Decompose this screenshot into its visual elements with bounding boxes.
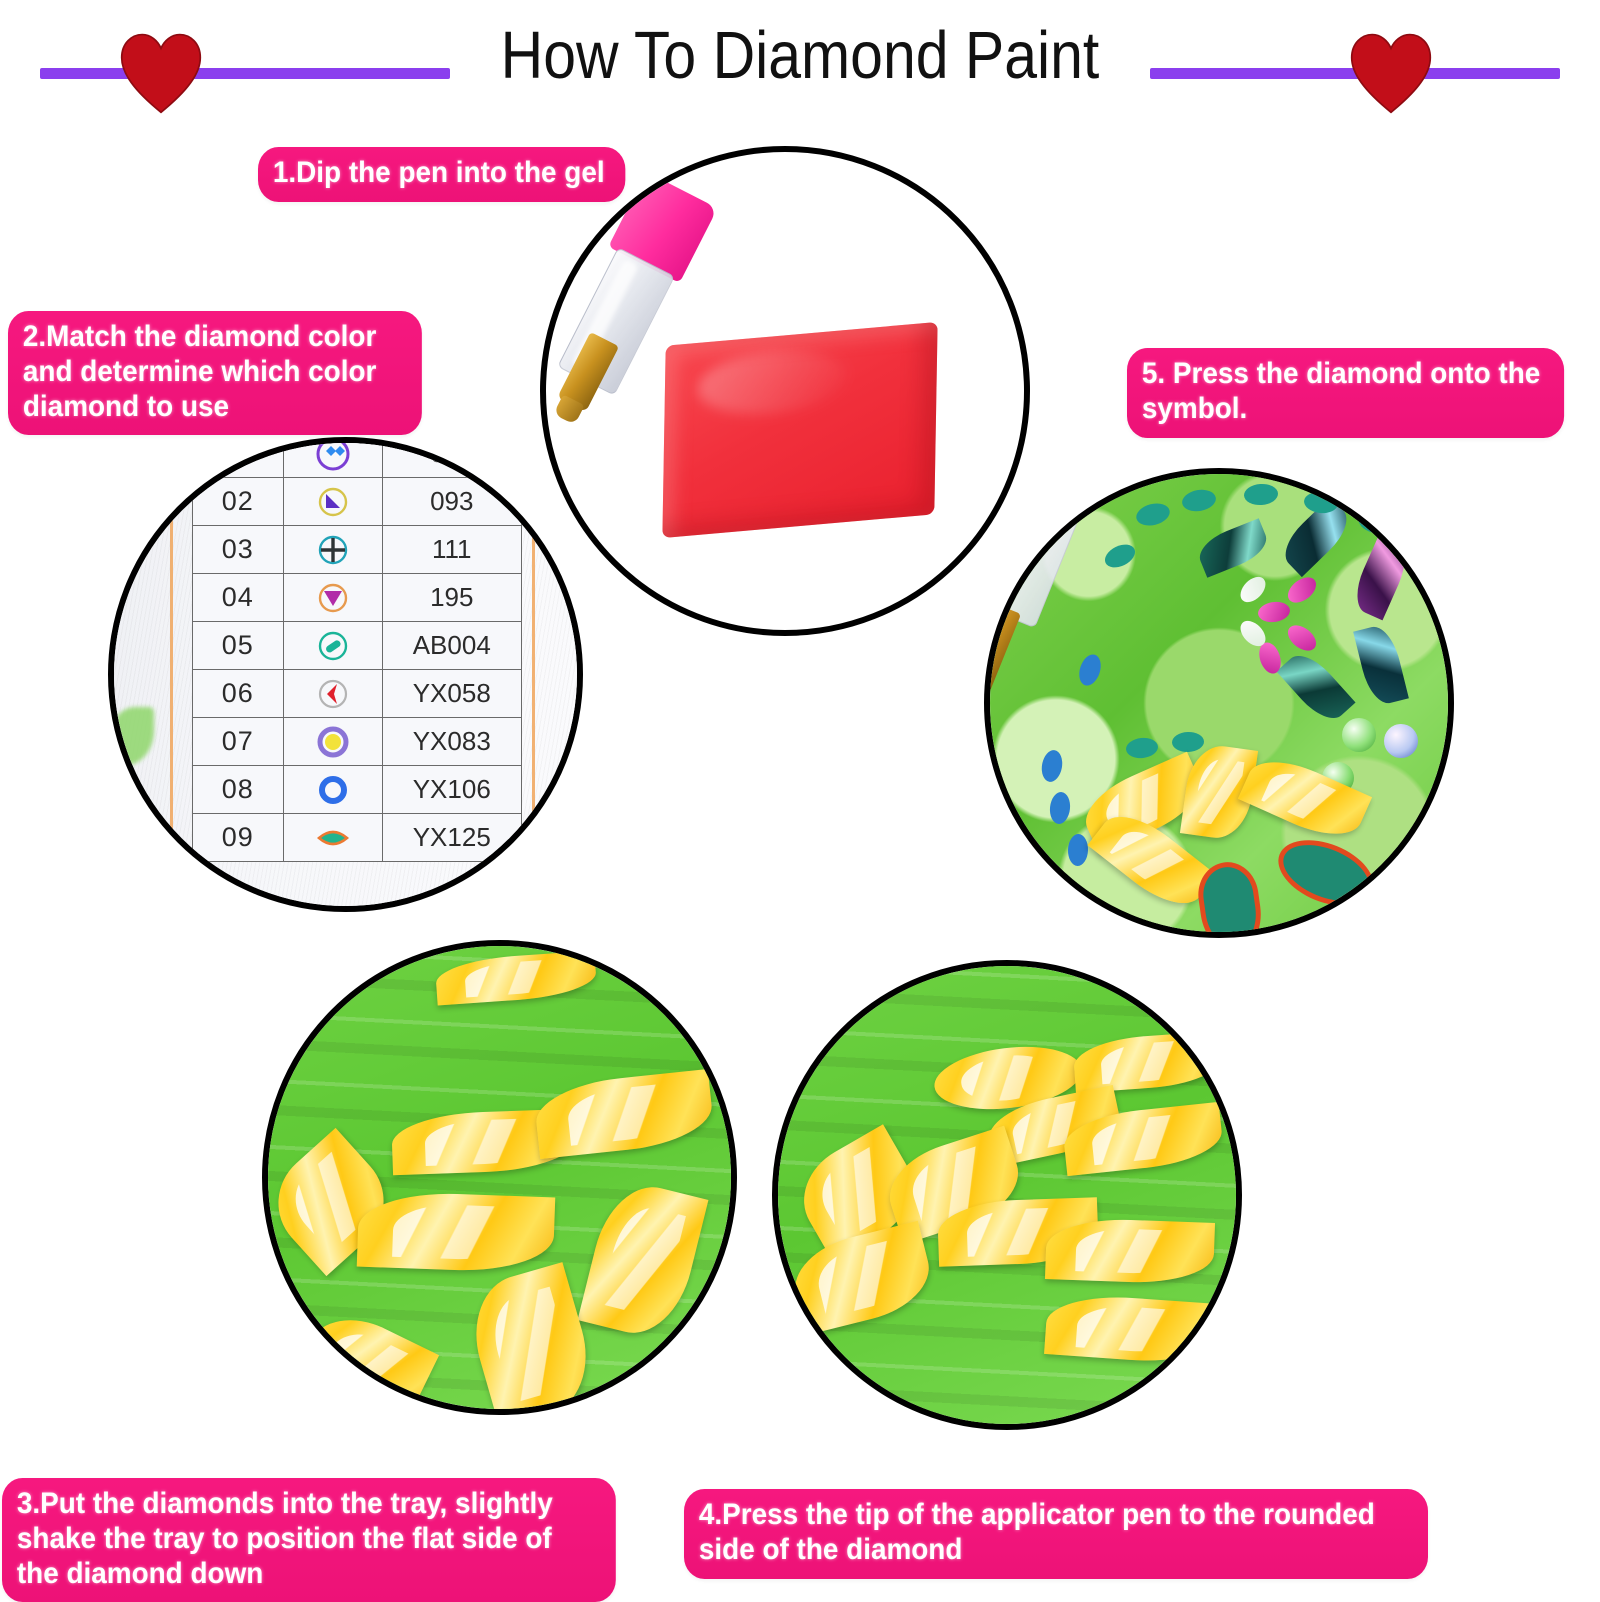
green-tray <box>264 942 735 1413</box>
step-3-photo-diamonds-in-tray <box>262 940 737 1415</box>
row-code: 093 <box>382 478 521 526</box>
row-symbol <box>283 478 382 526</box>
step-5-label: 5. Press the diamond onto the symbol. <box>1127 348 1564 438</box>
chart-sheet: 028 02 093 <box>114 443 577 906</box>
yellow-diamond <box>357 1191 556 1274</box>
pen-tip <box>984 684 985 711</box>
row-symbol <box>283 814 382 862</box>
yellow-diamond <box>1044 1292 1220 1366</box>
canvas-print-smudge <box>108 839 146 873</box>
green-tray <box>774 962 1240 1428</box>
row-symbol <box>283 437 382 478</box>
printed-symbol <box>1356 508 1394 538</box>
row-number: 09 <box>193 814 284 862</box>
table-row: 09 YX125 <box>193 814 522 862</box>
pen-gold-shaft <box>984 603 1021 700</box>
placed-gem <box>1283 620 1321 655</box>
red-gel-pad <box>662 322 937 538</box>
printed-symbol <box>1134 500 1172 529</box>
double-diamond-in-purple-circle-icon <box>284 437 382 476</box>
canvas-print-smudge <box>108 707 154 765</box>
filled-quarter-triangle-icon <box>284 480 382 524</box>
yellow-diamond <box>435 950 598 1005</box>
step-2-photo-color-chart: 028 02 093 <box>108 437 583 912</box>
placed-gem <box>1342 718 1376 752</box>
placed-gem <box>1353 623 1409 708</box>
filled-triangle-icon <box>284 576 382 620</box>
sheet-margin-rule <box>170 443 173 906</box>
table-row: 08 YX106 <box>193 766 522 814</box>
table-row: 06 YX058 <box>193 670 522 718</box>
infographic-canvas: How To Diamond Paint 1.Dip the pen into … <box>0 0 1600 1600</box>
placed-gem <box>1384 724 1418 758</box>
printed-symbol <box>1236 572 1271 607</box>
row-code: YX106 <box>382 766 521 814</box>
left-chevron-arrow-icon <box>284 672 382 716</box>
row-symbol <box>283 574 382 622</box>
row-code: YX058 <box>382 670 521 718</box>
printed-symbol <box>1269 827 1383 918</box>
step-4-photo-pen-pressing-diamond <box>772 960 1242 1430</box>
printed-symbol <box>1076 652 1105 689</box>
capsule-bar-icon <box>284 624 382 668</box>
yellow-diamond <box>291 1302 439 1415</box>
open-ring-icon <box>284 768 382 812</box>
placed-gem <box>1257 600 1291 624</box>
leaf-lens-icon <box>284 816 382 860</box>
row-code: 111 <box>382 526 521 574</box>
yellow-diamond <box>1238 748 1372 849</box>
row-number: 02 <box>193 478 284 526</box>
printed-symbol <box>1048 791 1071 825</box>
row-code: YX083 <box>382 718 521 766</box>
printed-symbol <box>1067 834 1088 867</box>
printed-symbol <box>1180 487 1217 514</box>
row-number: 05 <box>193 622 284 670</box>
yellow-diamond <box>1072 1031 1223 1093</box>
step-5-photo-press-diamond-onto-symbol <box>984 468 1454 938</box>
row-number: 08 <box>193 766 284 814</box>
table-row: 02 093 <box>193 478 522 526</box>
placed-gem <box>1194 518 1272 578</box>
row-symbol <box>283 766 382 814</box>
photo-content <box>546 152 1024 630</box>
row-number: 03 <box>193 526 284 574</box>
placed-gem <box>1348 534 1414 621</box>
row-number: 04 <box>193 574 284 622</box>
page-title: How To Diamond Paint <box>96 22 1504 89</box>
applicator-pen <box>984 468 1109 729</box>
row-symbol <box>283 526 382 574</box>
row-number: 07 <box>193 718 284 766</box>
table-row: 04 195 <box>193 574 522 622</box>
color-chart-table: 028 02 093 <box>192 437 522 862</box>
step-2-label: 2.Match the diamond color and determine … <box>8 311 422 435</box>
printed-symbol <box>1172 731 1205 752</box>
filled-dot-in-ring-icon <box>284 720 382 764</box>
table-row: 028 <box>193 437 522 478</box>
yellow-diamond <box>1045 1217 1215 1285</box>
row-code: YX125 <box>382 814 521 862</box>
printed-symbol <box>1039 749 1064 784</box>
step-3-label: 3.Put the diamonds into the tray, slight… <box>2 1478 616 1602</box>
row-symbol <box>283 622 382 670</box>
sheet-margin-rule <box>532 443 535 906</box>
row-code: 195 <box>382 574 521 622</box>
pen-barrel <box>772 960 872 1103</box>
pen-barrel <box>984 468 1091 628</box>
printed-symbol <box>1101 540 1139 572</box>
printed-symbol <box>1125 736 1159 759</box>
row-number: 06 <box>193 670 284 718</box>
table-row: 03 111 <box>193 526 522 574</box>
table-row: 05 AB004 <box>193 622 522 670</box>
row-code: AB004 <box>382 622 521 670</box>
row-symbol <box>283 670 382 718</box>
placed-gem <box>1283 572 1321 607</box>
row-code: 028 <box>382 437 521 478</box>
step-1-photo-pen-dipping-into-gel <box>540 146 1030 636</box>
yellow-diamond <box>460 1262 601 1415</box>
yellow-diamond <box>786 1221 938 1335</box>
yellow-diamond <box>578 1176 709 1343</box>
yellow-diamond <box>533 1069 716 1159</box>
placed-gem <box>1276 646 1355 728</box>
plus-cross-icon <box>284 528 382 572</box>
printed-symbol <box>1243 483 1278 506</box>
row-symbol <box>283 718 382 766</box>
step-4-label: 4.Press the tip of the applicator pen to… <box>684 1489 1428 1579</box>
table-row: 07 YX083 <box>193 718 522 766</box>
photo-content <box>986 470 1452 936</box>
row-number <box>193 437 284 478</box>
